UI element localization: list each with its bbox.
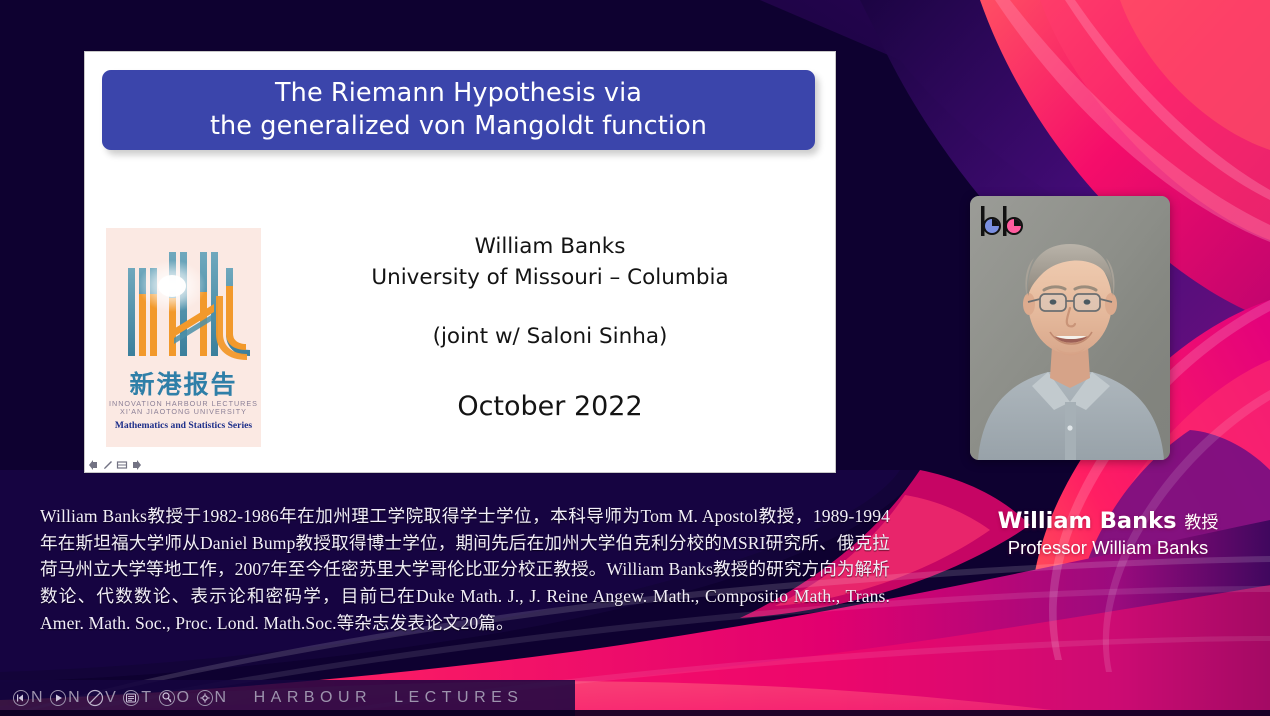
speaker-title-cn: 教授 <box>1184 513 1218 533</box>
slide-title-line-2: the generalized von Mangoldt function <box>210 111 707 142</box>
ihl-logo-mark-icon <box>114 234 254 376</box>
footer-branding: N N V <box>11 689 523 707</box>
speaker-name-en: Professor William Banks <box>958 536 1258 560</box>
footer-letter-o: O <box>177 689 195 707</box>
speaker-bio-text: William Banks教授于1982-1986年在加州理工学院取得学士学位，… <box>40 503 890 636</box>
footer-word-harbour: HARBOUR <box>254 689 373 707</box>
speaker-name-cn-row: William Banks 教授 <box>958 508 1258 535</box>
footer-letter-n2: N <box>68 689 85 707</box>
back-arrow-icon[interactable] <box>88 458 100 470</box>
footer-bar: N N V <box>0 680 1270 716</box>
slide-surface: The Riemann Hypothesis via the generaliz… <box>85 52 835 472</box>
slide-title-box: The Riemann Hypothesis via the generaliz… <box>102 70 815 150</box>
speaker-portrait-card <box>970 196 1170 460</box>
footer-word-lectures: LECTURES <box>394 689 523 707</box>
speaker-name: William Banks <box>280 232 820 263</box>
presentation-screen: The Riemann Hypothesis via the generaliz… <box>0 0 1270 716</box>
speaker-joint-work: (joint w/ Saloni Sinha) <box>280 324 820 349</box>
pen-icon[interactable] <box>102 458 114 470</box>
footer-word-innovation: N N V <box>11 689 232 707</box>
speaker-affiliation: University of Missouri – Columbia <box>280 263 820 294</box>
no-sound-icon[interactable] <box>86 689 104 707</box>
play-icon[interactable] <box>49 689 67 707</box>
footer-letter-n1: N <box>31 689 48 707</box>
bilibili-bb-logo-icon <box>978 204 1024 238</box>
previous-track-icon[interactable] <box>12 689 30 707</box>
ihl-logo-series: Mathematics and Statistics Series <box>115 420 252 431</box>
footer-letter-v: V <box>105 689 121 707</box>
footer-letter-n3: N <box>215 689 232 707</box>
settings-icon[interactable] <box>196 689 214 707</box>
slide-date: October 2022 <box>280 391 820 422</box>
subtitle-icon[interactable] <box>122 689 140 707</box>
speaker-name-main: William Banks <box>998 508 1177 534</box>
ihl-logo-block: 新港报告 INNOVATION HARBOUR LECTURES XI'AN J… <box>106 228 261 447</box>
slide-title-line-1: The Riemann Hypothesis via <box>275 78 642 109</box>
speaker-bio: William Banks教授于1982-1986年在加州理工学院取得学士学位，… <box>40 503 890 636</box>
footer-letter-t: T <box>141 689 156 707</box>
forward-arrow-icon[interactable] <box>130 458 142 470</box>
ihl-logo-english-line2: XI'AN JIAOTONG UNIVERSITY <box>120 408 247 416</box>
slide-speaker-block: William Banks University of Missouri – C… <box>280 232 820 422</box>
key-icon[interactable] <box>158 689 176 707</box>
slide-mini-toolbar[interactable] <box>88 458 142 470</box>
slide-frame[interactable]: The Riemann Hypothesis via the generaliz… <box>84 51 836 473</box>
page-icon[interactable] <box>116 458 128 470</box>
speaker-name-plate: William Banks 教授 Professor William Banks <box>958 508 1258 560</box>
